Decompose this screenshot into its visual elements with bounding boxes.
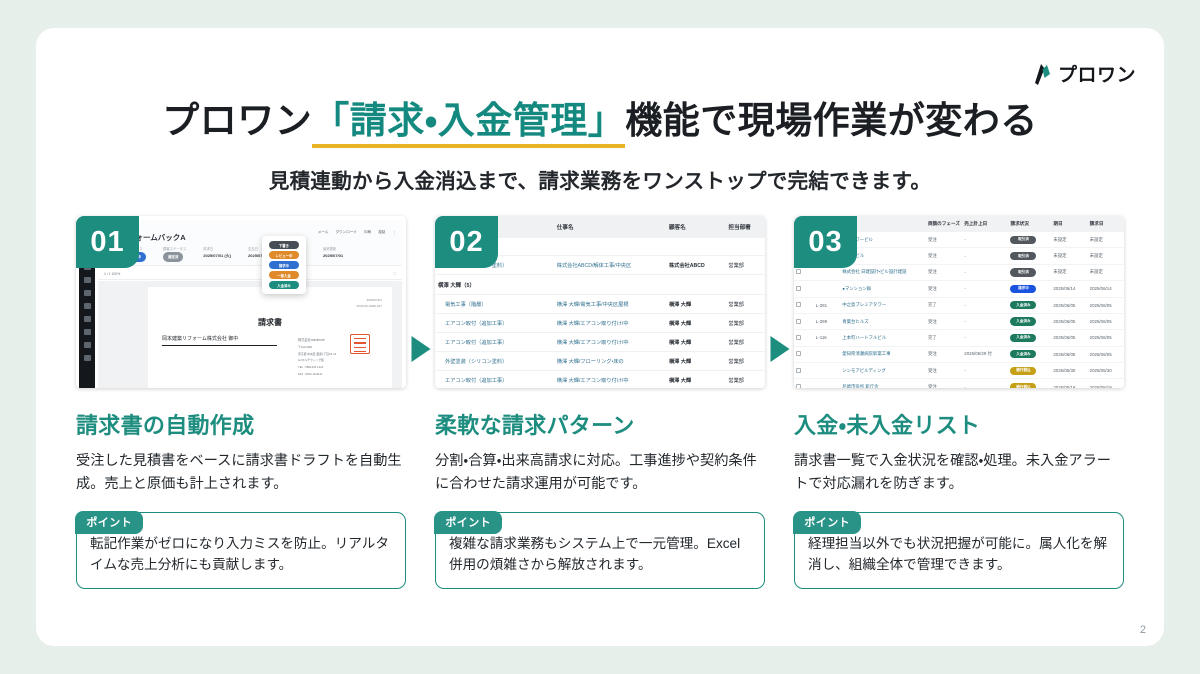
table-row[interactable]: L-116上本町ハートフルビル完了-入金済み2025/06/052025/06/… (794, 330, 1124, 346)
point-tag-1: ポイント (75, 511, 143, 534)
menu-item-partial[interactable]: 一部入金 (269, 271, 299, 279)
status-badge[interactable]: 入金済み (1010, 334, 1036, 342)
slide-canvas: プロワン プロワン「請求・入金管理」機能で現場作業が変わる 見積連動から入金消込… (36, 28, 1164, 646)
invoice-number-block: 2025/07/01 2025-06-0186-017 (357, 297, 382, 309)
cell-customer: 株式会社ABCD (666, 256, 725, 275)
row-checkbox[interactable] (796, 269, 801, 274)
cell-project-name[interactable]: シンモアビルディング (840, 363, 926, 379)
app-header-1: 案件 フォームバックA ステータス 請求中 顧客ステータス 確定済 請求日 (98, 220, 402, 266)
point-box-3: ポイント 経理担当以外でも状況把握が可能に。属人化を解消し、組織全体で管理できま… (794, 512, 1124, 589)
zoom-level-label: 1 / 1 100% (104, 272, 120, 276)
feature-column-3: 03 商談のフェーズ (794, 216, 1124, 589)
col-phase[interactable]: 商談のフェーズ (926, 216, 962, 232)
cell-due-date: 2025/06/05 (1051, 297, 1087, 313)
row-checkbox[interactable] (796, 286, 801, 291)
cell-sales-date: - (962, 379, 1008, 388)
cell-dept: 営業部 (725, 314, 765, 333)
cell-code (814, 363, 840, 379)
meta-updated-label: 最終更新 (323, 247, 336, 251)
meta-billing-date-label: 請求日 (203, 247, 213, 251)
col-customer[interactable]: 顧客名 (666, 216, 725, 238)
cell-customer: 横澤 大輝 (666, 314, 725, 333)
toolbar-more-icon[interactable]: ⋮ (392, 231, 396, 235)
cell-project-name[interactable]: 愛知県清瀬病院新築工事 (840, 346, 926, 362)
row-checkbox[interactable] (796, 335, 801, 340)
app-toolbar-1: メール ダウンロード 印刷 複製 ⋮ (318, 230, 396, 235)
cell-status: 銀行振込 (1008, 379, 1051, 388)
cell-sales-date: - (962, 363, 1008, 379)
point-tag-3: ポイント (793, 511, 861, 534)
meta-billing-date-value: 2025/07/01 (火) (203, 252, 231, 260)
group-label: 横澤 大輝（5） (435, 275, 765, 295)
rail-icon-tag[interactable] (84, 342, 91, 348)
cell-billed-date: 未設定 (1088, 248, 1124, 264)
cell-code (814, 379, 840, 388)
menu-item-review[interactable]: レビュー中 (269, 251, 299, 259)
page-title: プロワン「請求・入金管理」機能で現場作業が変わる (36, 90, 1164, 144)
page-number: 2 (1140, 624, 1146, 636)
rail-icon-doc[interactable] (84, 316, 91, 322)
cell-checkbox[interactable] (794, 297, 814, 313)
cell-job[interactable]: 横澤 大輝/エアコン取り付け/中 (554, 371, 666, 389)
cell-phase: 受注 (926, 363, 962, 379)
col-dept[interactable]: 担当部署 (725, 216, 765, 238)
status-dropdown-menu[interactable]: 下書き レビュー中 請求中 一部入金 入金済み (262, 236, 306, 294)
point-body-3: 経理担当以外でも状況把握が可能に。属人化を解消し、組織全体で管理できます。 (808, 533, 1110, 576)
title-open-quote: 「 (312, 100, 350, 141)
cell-status: 入金済み (1008, 346, 1051, 362)
cell-billed-date: 未設定 (1088, 232, 1124, 248)
table-row[interactable]: エアコン取付（追加工事） 横澤 大輝/エアコン取り付け/中 横澤 大輝 営業部 (435, 314, 765, 333)
cell-project-name[interactable]: 中之島プレミアタワー (840, 297, 926, 313)
row-checkbox[interactable] (796, 384, 801, 388)
cell-phase: 受注 (926, 346, 962, 362)
cell-billed-date: 未設定 (1088, 264, 1124, 280)
cell-checkbox[interactable] (794, 330, 814, 346)
cell-due-date: 未設定 (1051, 264, 1087, 280)
col-billed-date[interactable]: 請求日 (1088, 216, 1124, 232)
feature-column-1: 01 案件 フォームバックA (76, 216, 406, 589)
status-badge[interactable]: 請求中 (1010, 285, 1036, 293)
record-meta-row: ステータス 請求中 顧客ステータス 確定済 請求日 2025/07/01 (火) (126, 246, 394, 262)
menu-item-billing[interactable]: 請求中 (269, 261, 299, 269)
status-badge[interactable]: 銀行振込 (1010, 367, 1036, 375)
status-badge[interactable]: 入金済み (1010, 317, 1036, 325)
row-checkbox[interactable] (796, 302, 801, 307)
cell-sales-date: - (962, 281, 1008, 297)
col-due-date[interactable]: 期日 (1051, 216, 1087, 232)
meta-billing-date: 請求日 2025/07/01 (火) (203, 246, 231, 262)
invoice-issuer-address: 〒104-0061東京都 中央区 銀座1丁目16-13GJマルチウィング館TEL… (298, 345, 336, 376)
cell-phase: 受注 (926, 248, 962, 264)
cell-status: 銀行振込 (1008, 363, 1051, 379)
cell-customer: 横澤 大輝 (666, 371, 725, 389)
table-row[interactable]: 愛知県清瀬病院新築工事受注2025/05/29 付入金済み2025/06/052… (794, 346, 1124, 362)
rail-icon-user[interactable] (84, 277, 91, 283)
cell-phase: 完了 (926, 330, 962, 346)
cell-due-date: 2025/05/30 (1051, 363, 1087, 379)
cell-due-date: 2025/06/05 (1051, 313, 1087, 329)
toolbar-print-button[interactable]: 印刷 (364, 230, 371, 235)
prowan-diamond-logo-icon (1032, 62, 1052, 86)
pdf-preview-pane: 2025/07/01 2025-06-0186-017 請求書 岡本建築リフォー… (98, 281, 402, 388)
title-accent-text: 請求・入金管理 (350, 100, 588, 141)
brand-name: プロワン (1058, 60, 1136, 87)
cell-checkbox[interactable] (794, 313, 814, 329)
cell-due-date: 2025/06/05 (1051, 346, 1087, 362)
cell-phase: 受注 (926, 264, 962, 280)
app-screenshot-2: 02 仕事名 顧客名 担当部署 (435, 216, 765, 388)
cust-status-badge[interactable]: 確定済 (163, 252, 183, 261)
status-badge[interactable]: 取引済 (1010, 268, 1036, 276)
title-close-quote: 」 (588, 100, 626, 141)
cell-dept: 営業部 (725, 256, 765, 275)
invoice-issuer: 株式会社maximore (298, 338, 325, 342)
cell-due-date: 2025/06/14 (1051, 281, 1087, 297)
cell-customer: 横澤 大輝 (666, 295, 725, 314)
meta-cust-status-label: 顧客ステータス (163, 247, 186, 251)
cell-phase: 完了 (926, 297, 962, 313)
page-subtitle: 見積連動から入金消込まで、請求業務をワンストップで完結できます。 (36, 164, 1164, 194)
pdf-zoom-bar[interactable]: 1 / 1 100% ⛶ (98, 268, 402, 280)
feature-body-1: 受注した見積書をベースに請求書ドラフトを自動生成。売上と原価も計上されます。 (76, 450, 406, 496)
point-box-2: ポイント 複雑な請求業務もシステム上で一元管理。Excel併用の煩雑さから解放さ… (435, 512, 765, 589)
cell-project-name[interactable]: 上本町ハートフルビル (840, 330, 926, 346)
table-row[interactable]: L-291中之島プレミアタワー完了-入金済み2025/06/052025/06/… (794, 297, 1124, 313)
title-pre: プロワン (162, 100, 312, 141)
status-badge[interactable]: 入金済み (1010, 350, 1036, 358)
cell-status: 入金済み (1008, 313, 1051, 329)
cell-sales-date: 2025/05/29 付 (962, 346, 1008, 362)
invoice-issuer-block: 株式会社maximore 〒104-0061東京都 中央区 銀座1丁目16-13… (298, 337, 336, 378)
cell-customer: 横澤 大輝 (666, 352, 725, 371)
cell-name[interactable]: 外壁塗装（シリコン塗料） (435, 352, 554, 371)
cell-code (814, 281, 840, 297)
row-checkbox[interactable] (796, 319, 801, 324)
invoice-date: 2025/07/01 (367, 298, 382, 302)
cell-project-name[interactable]: 尼崎市役所 新庁舎 (840, 379, 926, 388)
cell-billed-date: 2025/06/05 (1088, 346, 1124, 362)
cell-job[interactable]: 横澤 大輝/フローリング・床の (554, 352, 666, 371)
rail-icon-gear[interactable] (84, 355, 91, 361)
cell-checkbox[interactable] (794, 346, 814, 362)
cell-customer: 横澤 大輝 (666, 333, 725, 352)
step-number-2: 02 (435, 216, 498, 268)
toolbar-duplicate-button[interactable]: 複製 (378, 230, 385, 235)
table-row[interactable]: 電気工事（階層） 横澤 大輝/電気工事/中央区屋根 横澤 大輝 営業部 (435, 295, 765, 314)
cell-billed-date: 2025/06/05 (1088, 313, 1124, 329)
menu-item-paid[interactable]: 入金済み (269, 281, 299, 289)
feature-columns: 01 案件 フォームバックA (76, 216, 1124, 589)
cell-sales-date: - (962, 313, 1008, 329)
feature-body-2: 分割・合算・出来高請求に対応。工事進捗や契約条件に合わせた請求運用が可能です。 (435, 450, 765, 496)
feature-heading-2: 柔軟な請求パターン (435, 408, 765, 440)
table-group-row: 横澤 大輝（5） (435, 275, 765, 295)
cell-project-name[interactable]: 青葉台ヒルズ (840, 313, 926, 329)
status-badge[interactable]: 銀行振込 (1010, 383, 1036, 388)
point-tag-2: ポイント (434, 511, 502, 534)
cell-due-date: 未設定 (1051, 232, 1087, 248)
cell-code: L-116 (814, 330, 840, 346)
table-row[interactable]: L-299青葉台ヒルズ受注-入金済み2025/06/052025/06/05 (794, 313, 1124, 329)
step-number-1: 01 (76, 216, 139, 268)
app-screenshot-1: 01 案件 フォームバックA (76, 216, 406, 388)
title-accent: 「請求・入金管理」 (312, 100, 625, 148)
invoice-number: 2025-06-0186-017 (357, 304, 382, 308)
cell-project-name[interactable]: 株式会社 日建設計・ビル設計建設 (840, 264, 926, 280)
cell-status: 取引済 (1008, 264, 1051, 280)
cell-due-date: 2025/06/05 (1051, 330, 1087, 346)
point-body-1: 転記作業がゼロになり入力ミスを防止。リアルタイムな売上分析にも貢献します。 (90, 533, 392, 576)
meta-pay-date-label: 支払日 (248, 247, 258, 251)
status-badge[interactable]: 入金済み (1010, 301, 1036, 309)
cell-job[interactable]: 横澤 大輝/エアコン取り付け/中 (554, 314, 666, 333)
cell-dept: 営業部 (725, 333, 765, 352)
cell-checkbox[interactable] (794, 379, 814, 388)
step-number-3: 03 (794, 216, 857, 268)
toolbar-mail-button[interactable]: メール (318, 230, 329, 235)
cell-phase: 受注 (926, 232, 962, 248)
cell-name[interactable]: エアコン取付（追加工事） (435, 314, 554, 333)
cell-name[interactable]: エアコン取付（追加工事） (435, 371, 554, 389)
cell-checkbox[interactable] (794, 363, 814, 379)
rail-icon-list[interactable] (84, 329, 91, 335)
cell-checkbox[interactable] (794, 281, 814, 297)
toolbar-download-button[interactable]: ダウンロード (335, 230, 357, 235)
status-badge[interactable]: 取引済 (1010, 252, 1036, 260)
cell-billed-date: 2025/05/19 (1088, 379, 1124, 388)
col-job-name[interactable]: 仕事名 (554, 216, 666, 238)
app-screenshot-3: 03 商談のフェーズ (794, 216, 1124, 388)
cell-dept: 営業部 (725, 352, 765, 371)
cell-billed-date: 2025/06/05 (1088, 330, 1124, 346)
row-checkbox[interactable] (796, 351, 801, 356)
cell-dept: 営業部 (725, 295, 765, 314)
meta-cust-status: 顧客ステータス 確定済 (163, 246, 186, 262)
meta-updated-value: 2025/07/01 (323, 252, 343, 260)
feature-column-2: 02 仕事名 顧客名 担当部署 (435, 216, 765, 589)
cell-job[interactable]: 横澤 大輝/電気工事/中央区屋根 (554, 295, 666, 314)
cell-phase: 受注 (926, 379, 962, 388)
title-post: 機能で現場作業が変わる (625, 100, 1038, 141)
cell-billed-date: 2025/06/05 (1088, 297, 1124, 313)
cell-dept: 営業部 (725, 371, 765, 389)
status-badge[interactable]: 取引済 (1010, 236, 1036, 244)
cell-code: L-299 (814, 313, 840, 329)
table-row[interactable]: エアコン取付（追加工事） 横澤 大輝/エアコン取り付け/中 横澤 大輝 営業部 (435, 371, 765, 389)
cell-project-name[interactable]: ●マンション群 (840, 281, 926, 297)
cell-sales-date: - (962, 330, 1008, 346)
cell-job[interactable]: 株式会社ABCD/解体工事/中央区 (554, 256, 666, 275)
cell-sales-date: - (962, 232, 1008, 248)
cell-sales-date: - (962, 297, 1008, 313)
cell-status: 取引済 (1008, 232, 1051, 248)
arrow-gap-2 (765, 216, 794, 589)
meta-updated: 最終更新 2025/07/01 (323, 246, 343, 262)
table-row[interactable]: エアコン取付（追加工事） 横澤 大輝/エアコン取り付け/中 横澤 大輝 営業部 (435, 333, 765, 352)
cell-status: 入金済み (1008, 297, 1051, 313)
cell-billed-date: 2025/05/30 (1088, 363, 1124, 379)
cell-name[interactable]: 電気工事（階層） (435, 295, 554, 314)
cell-code: L-291 (814, 297, 840, 313)
cell-status: 入金済み (1008, 330, 1051, 346)
brand-logo: プロワン (1032, 60, 1136, 87)
arrow-gap-1 (406, 216, 435, 589)
feature-heading-3: 入金・未入金リスト (794, 408, 1124, 440)
cell-status: 請求中 (1008, 281, 1051, 297)
arrow-right-icon-1 (411, 336, 430, 362)
cell-billed-date: 2025/06/14 (1088, 281, 1124, 297)
rail-icon-calendar[interactable] (84, 303, 91, 309)
company-seal-icon (350, 334, 370, 354)
invoice-document: 2025/07/01 2025-06-0186-017 請求書 岡本建築リフォー… (148, 287, 392, 388)
cell-sales-date: - (962, 248, 1008, 264)
table-row[interactable]: シンモアビルディング受注-銀行振込2025/05/302025/05/30 (794, 363, 1124, 379)
arrow-right-icon-2 (770, 336, 789, 362)
feature-body-3: 請求書一覧で入金状況を確認・処理。未入金アラートで対応漏れを防ぎます。 (794, 450, 1124, 496)
cell-due-date: 未設定 (1051, 248, 1087, 264)
menu-item-draft[interactable]: 下書き (269, 241, 299, 249)
table-row[interactable]: ●マンション群受注-請求中2025/06/142025/06/14 (794, 281, 1124, 297)
table-row[interactable]: 外壁塗装（シリコン塗料） 横澤 大輝/フローリング・床の 横澤 大輝 営業部 (435, 352, 765, 371)
col-billing-status[interactable]: 請求状況 (1008, 216, 1051, 232)
cell-sales-date: - (962, 264, 1008, 280)
fullscreen-icon[interactable]: ⛶ (394, 272, 396, 276)
cell-status: 取引済 (1008, 248, 1051, 264)
cell-phase: 受注 (926, 313, 962, 329)
row-checkbox[interactable] (796, 368, 801, 373)
cell-job[interactable]: 横澤 大輝/エアコン取り付け/中 (554, 333, 666, 352)
cell-due-date: 2025/05/19 (1051, 379, 1087, 388)
invoice-customer-name: 岡本建築リフォーム株式会社 御中 (162, 335, 277, 346)
cell-phase: 受注 (926, 281, 962, 297)
table-row[interactable]: 尼崎市役所 新庁舎受注-銀行振込2025/05/192025/05/19 (794, 379, 1124, 388)
cell-name[interactable]: エアコン取付（追加工事） (435, 333, 554, 352)
feature-heading-1: 請求書の自動作成 (76, 408, 406, 440)
invoice-doc-title: 請求書 (148, 317, 392, 328)
point-box-1: ポイント 転記作業がゼロになり入力ミスを防止。リアルタイムな売上分析にも貢献しま… (76, 512, 406, 589)
rail-icon-clock[interactable] (84, 290, 91, 296)
col-sales-date[interactable]: 売上計上日 (962, 216, 1008, 232)
point-body-2: 複雑な請求業務もシステム上で一元管理。Excel併用の煩雑さから解放されます。 (449, 533, 751, 576)
cell-code (814, 346, 840, 362)
